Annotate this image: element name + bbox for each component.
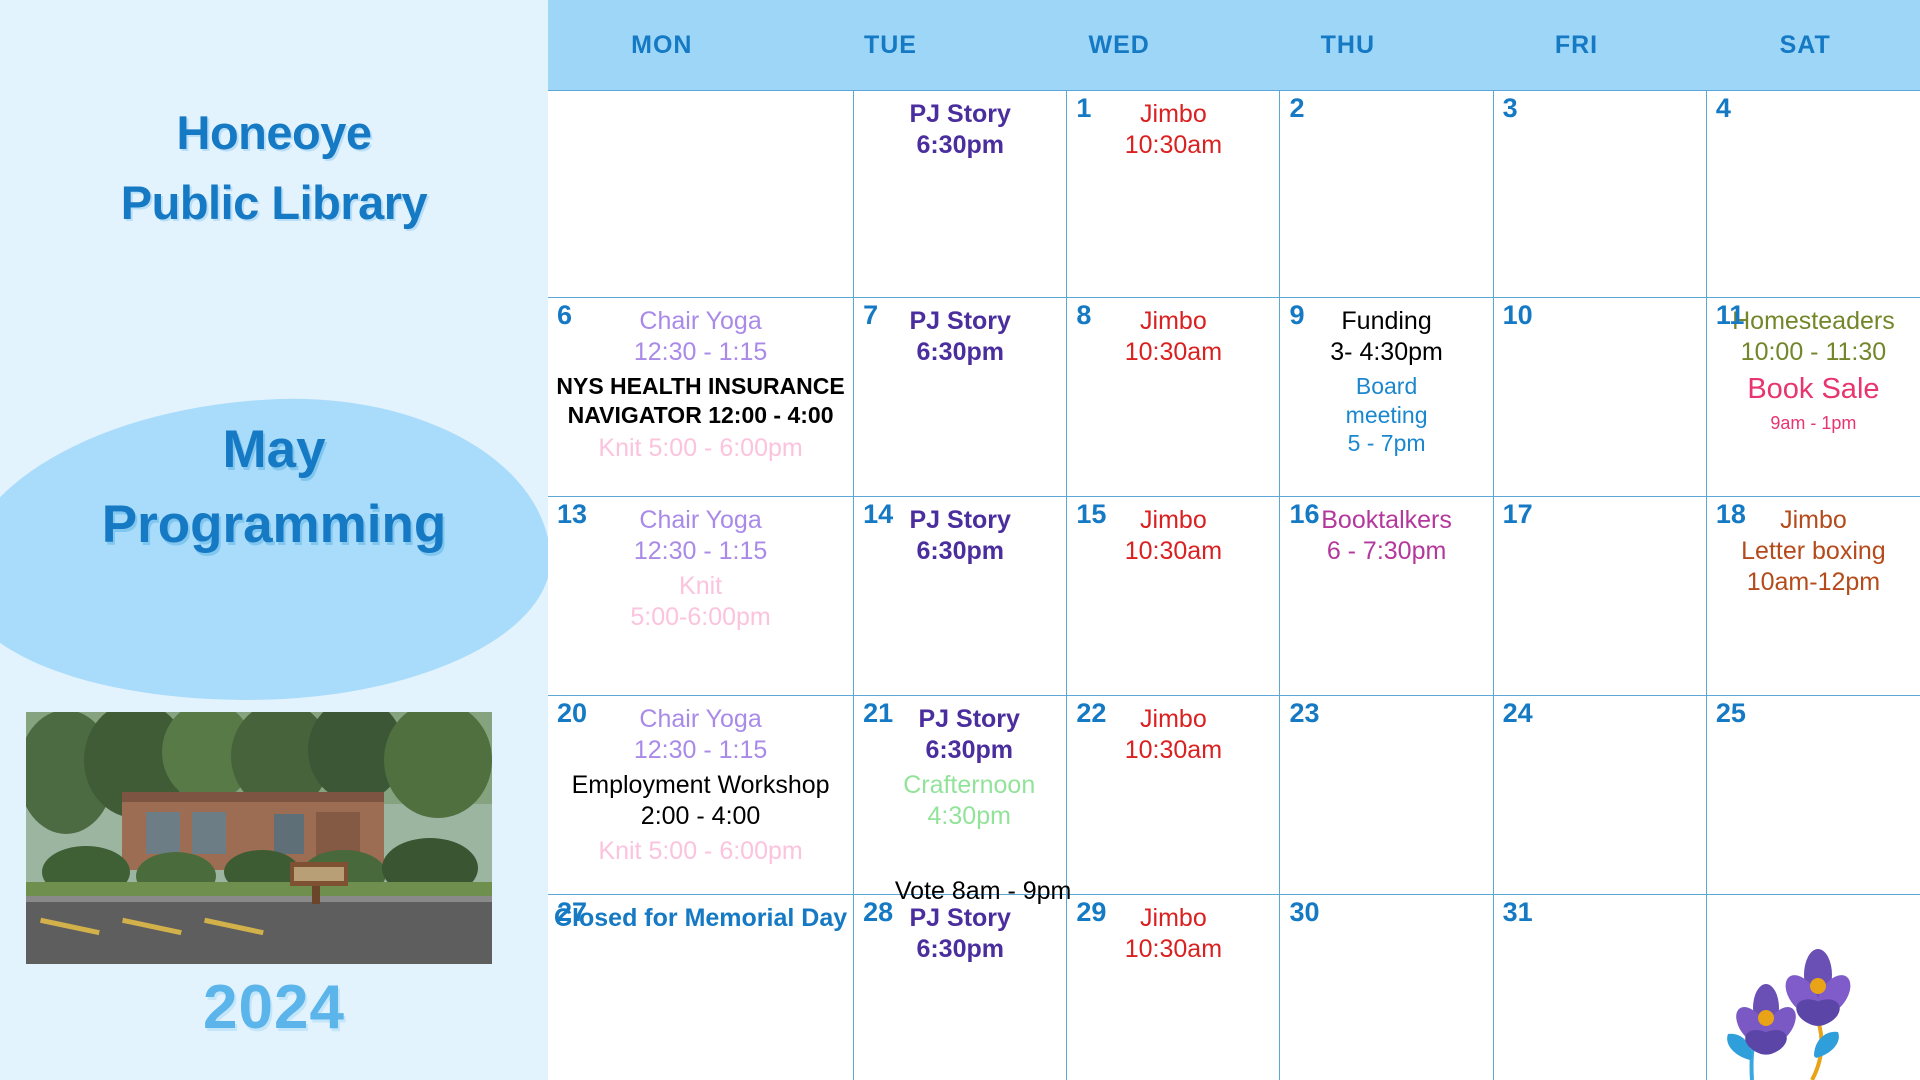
event-line: Knit	[554, 571, 847, 602]
calendar-day-cell[interactable]: 2	[1280, 91, 1493, 298]
calendar-day-cell[interactable]: 8Jimbo10:30am	[1067, 298, 1280, 497]
calendar-day-cell[interactable]: 3	[1494, 91, 1707, 298]
calendar-day-cell[interactable]: 24	[1494, 696, 1707, 895]
calendar-event[interactable]: Jimbo10:30am	[1073, 99, 1273, 161]
event-line: 4:30pm	[878, 801, 1060, 832]
calendar-day-cell[interactable]: 6Chair Yoga12:30 - 1:15NYS HEALTH INSURA…	[548, 298, 854, 497]
day-events: Jimbo10:30am	[1073, 306, 1273, 368]
event-line: 10:00 - 11:30	[1713, 337, 1914, 368]
event-line: 5:00-6:00pm	[554, 602, 847, 633]
event-line: NAVIGATOR 12:00 - 4:00	[554, 401, 847, 430]
calendar-event[interactable]: Funding3- 4:30pm	[1286, 306, 1486, 368]
event-line: Chair Yoga	[554, 704, 847, 735]
calendar-event[interactable]: PJ Story6:30pm	[860, 99, 1060, 161]
day-events: Funding3- 4:30pmBoardmeeting5 - 7pm	[1286, 306, 1486, 458]
calendar-poster: Honeoye Public Library May Programming	[0, 0, 1920, 1080]
weekday-fri: FRI	[1463, 0, 1692, 90]
day-events: PJ Story6:30pm	[860, 99, 1060, 161]
calendar-day-cell[interactable]: 27Closed for Memorial Day	[548, 895, 854, 1080]
event-line: 10:30am	[1073, 337, 1273, 368]
calendar-event[interactable]: Knit5:00-6:00pm	[554, 571, 847, 633]
calendar-day-cell[interactable]: 4	[1707, 91, 1920, 298]
calendar-day-cell[interactable]	[548, 91, 854, 298]
event-line: 9am - 1pm	[1713, 412, 1914, 434]
event-line: Board	[1286, 372, 1486, 401]
event-line: Closed for Memorial Day	[554, 903, 847, 934]
calendar-day-cell[interactable]: 15Jimbo10:30am	[1067, 497, 1280, 696]
event-line: Letter boxing	[1713, 536, 1914, 567]
day-number: 4	[1716, 95, 1731, 122]
calendar-day-cell[interactable]: 1Jimbo10:30am	[1067, 91, 1280, 298]
year-label: 2024	[0, 972, 548, 1043]
calendar-day-cell[interactable]: 9Funding3- 4:30pmBoardmeeting5 - 7pm	[1280, 298, 1493, 497]
calendar-event[interactable]: Book Sale	[1713, 372, 1914, 408]
event-line: Chair Yoga	[554, 306, 847, 337]
calendar-event[interactable]: Knit 5:00 - 6:00pm	[554, 433, 847, 464]
day-number: 11	[1716, 302, 1745, 329]
day-events: Jimbo10:30am	[1073, 99, 1273, 161]
weekday-mon: MON	[548, 0, 777, 90]
calendar-day-cell[interactable]: 22Jimbo10:30am	[1067, 696, 1280, 895]
library-name: Honeoye Public Library	[0, 98, 548, 237]
day-events: PJ Story6:30pm	[860, 306, 1060, 368]
library-building-photo	[26, 712, 492, 964]
calendar: MON TUE WED THU FRI SAT PJ Story6:30pm1J…	[548, 0, 1920, 1080]
calendar-day-cell[interactable]: 30	[1280, 895, 1493, 1080]
day-number: 13	[557, 501, 587, 528]
event-line: 6:30pm	[878, 735, 1060, 766]
event-line: Jimbo	[1073, 99, 1273, 130]
event-line: NYS HEALTH INSURANCE	[554, 372, 847, 401]
event-line: Chair Yoga	[554, 505, 847, 536]
day-number: 27	[557, 899, 587, 926]
day-number: 16	[1289, 501, 1319, 528]
event-line: 2:00 - 4:00	[554, 801, 847, 832]
calendar-day-cell[interactable]: 28PJ Story6:30pm	[854, 895, 1067, 1080]
day-number: 21	[863, 700, 893, 727]
calendar-event[interactable]: PJ Story6:30pm	[860, 306, 1060, 368]
event-line: 10:30am	[1073, 536, 1273, 567]
weekday-sat: SAT	[1691, 0, 1920, 90]
event-line: Jimbo	[1073, 306, 1273, 337]
event-line: 10:30am	[1073, 934, 1273, 965]
calendar-day-cell[interactable]: 14PJ Story6:30pm	[854, 497, 1067, 696]
calendar-event[interactable]: Employment Workshop2:00 - 4:00	[554, 770, 847, 832]
calendar-day-cell[interactable]: 20Chair Yoga12:30 - 1:15Employment Works…	[548, 696, 854, 895]
event-line: PJ Story	[860, 99, 1060, 130]
library-name-line1: Honeoye	[177, 106, 372, 159]
event-line: 12:30 - 1:15	[554, 735, 847, 766]
calendar-grid: PJ Story6:30pm1Jimbo10:30am2346Chair Yog…	[548, 90, 1920, 1080]
event-line: Knit 5:00 - 6:00pm	[554, 836, 847, 867]
calendar-event[interactable]: Chair Yoga12:30 - 1:15	[554, 505, 847, 567]
calendar-day-cell[interactable]: 25	[1707, 696, 1920, 895]
weekday-wed: WED	[1005, 0, 1234, 90]
library-name-line2: Public Library	[121, 176, 427, 229]
month-title: May Programming	[0, 412, 548, 563]
event-line: 6:30pm	[860, 130, 1060, 161]
day-events: Closed for Memorial Day	[554, 903, 847, 934]
calendar-day-cell[interactable]: 23	[1280, 696, 1493, 895]
calendar-day-cell[interactable]: 7PJ Story6:30pm	[854, 298, 1067, 497]
day-number: 10	[1503, 302, 1533, 329]
calendar-day-cell[interactable]: 13Chair Yoga12:30 - 1:15Knit5:00-6:00pm	[548, 497, 854, 696]
calendar-event[interactable]: Knit 5:00 - 6:00pm	[554, 836, 847, 867]
calendar-event[interactable]: 9am - 1pm	[1713, 412, 1914, 434]
weekday-tue: TUE	[777, 0, 1006, 90]
day-number: 2	[1289, 95, 1304, 122]
day-events: Chair Yoga12:30 - 1:15Knit5:00-6:00pm	[554, 505, 847, 633]
event-line: 10:30am	[1073, 735, 1273, 766]
calendar-event[interactable]: Chair Yoga12:30 - 1:15	[554, 306, 847, 368]
event-line: 12:30 - 1:15	[554, 536, 847, 567]
calendar-event[interactable]: Boardmeeting5 - 7pm	[1286, 372, 1486, 458]
calendar-event[interactable]: NYS HEALTH INSURANCENAVIGATOR 12:00 - 4:…	[554, 372, 847, 429]
event-line: 6:30pm	[860, 934, 1060, 965]
day-number: 17	[1503, 501, 1533, 528]
event-line: 6 - 7:30pm	[1286, 536, 1486, 567]
day-number: 18	[1716, 501, 1746, 528]
day-number: 7	[863, 302, 878, 329]
calendar-weekday-header: MON TUE WED THU FRI SAT	[548, 0, 1920, 90]
calendar-event[interactable]: Closed for Memorial Day	[554, 903, 847, 934]
event-line: 3- 4:30pm	[1286, 337, 1486, 368]
day-number: 24	[1503, 700, 1533, 727]
month-title-line1: May	[222, 420, 325, 479]
event-line: 6:30pm	[860, 536, 1060, 567]
event-line: PJ Story	[878, 704, 1060, 735]
day-events: PJ Story6:30pmCrafternoon4:30pm	[878, 704, 1060, 832]
event-line: meeting	[1286, 401, 1486, 430]
calendar-day-cell[interactable]: 31	[1494, 895, 1707, 1080]
weekday-thu: THU	[1234, 0, 1463, 90]
calendar-day-cell[interactable]: 11Homesteaders10:00 - 11:30Book Sale9am …	[1707, 298, 1920, 497]
day-number: 20	[557, 700, 587, 727]
calendar-event[interactable]: PJ Story6:30pm	[878, 704, 1060, 766]
month-title-line2: Programming	[102, 495, 447, 554]
day-number: 9	[1289, 302, 1304, 329]
day-number: 30	[1289, 899, 1319, 926]
event-line: Knit 5:00 - 6:00pm	[554, 433, 847, 464]
calendar-event[interactable]: Crafternoon4:30pm	[878, 770, 1060, 832]
day-number: 8	[1076, 302, 1091, 329]
event-line: 12:30 - 1:15	[554, 337, 847, 368]
event-line: Employment Workshop	[554, 770, 847, 801]
calendar-day-cell[interactable]: PJ Story6:30pm	[854, 91, 1067, 298]
event-line: 5 - 7pm	[1286, 429, 1486, 458]
left-panel: Honeoye Public Library May Programming	[0, 0, 548, 1080]
calendar-day-cell[interactable]: 29Jimbo10:30am	[1067, 895, 1280, 1080]
day-number: 22	[1076, 700, 1106, 727]
event-line: Crafternoon	[878, 770, 1060, 801]
event-line: Funding	[1286, 306, 1486, 337]
event-line: 6:30pm	[860, 337, 1060, 368]
event-line: PJ Story	[860, 306, 1060, 337]
day-number: 15	[1076, 501, 1106, 528]
event-line: 10am-12pm	[1713, 567, 1914, 598]
calendar-day-cell[interactable]: 10	[1494, 298, 1707, 497]
day-number: 1	[1076, 95, 1091, 122]
day-events: Chair Yoga12:30 - 1:15Employment Worksho…	[554, 704, 847, 867]
day-number: 6	[557, 302, 572, 329]
calendar-day-cell[interactable]: 16Booktalkers6 - 7:30pm	[1280, 497, 1493, 696]
calendar-event[interactable]: Jimbo10:30am	[1073, 306, 1273, 368]
day-number: 31	[1503, 899, 1533, 926]
calendar-day-cell[interactable]: 21PJ Story6:30pmCrafternoon4:30pmVote 8a…	[854, 696, 1067, 895]
event-line: Book Sale	[1713, 372, 1914, 408]
calendar-day-cell[interactable]: 18JimboLetter boxing10am-12pm	[1707, 497, 1920, 696]
day-number: 3	[1503, 95, 1518, 122]
day-number: 14	[863, 501, 893, 528]
day-number: 25	[1716, 700, 1746, 727]
event-line: 10:30am	[1073, 130, 1273, 161]
calendar-day-cell[interactable]: 17	[1494, 497, 1707, 696]
calendar-event[interactable]: Chair Yoga12:30 - 1:15	[554, 704, 847, 766]
calendar-day-cell[interactable]	[1707, 895, 1920, 1080]
vote-banner: Vote 8am - 9pm	[848, 877, 1118, 906]
day-number: 23	[1289, 700, 1319, 727]
library-photo-illustration	[26, 712, 492, 964]
day-events: Chair Yoga12:30 - 1:15NYS HEALTH INSURAN…	[554, 306, 847, 464]
